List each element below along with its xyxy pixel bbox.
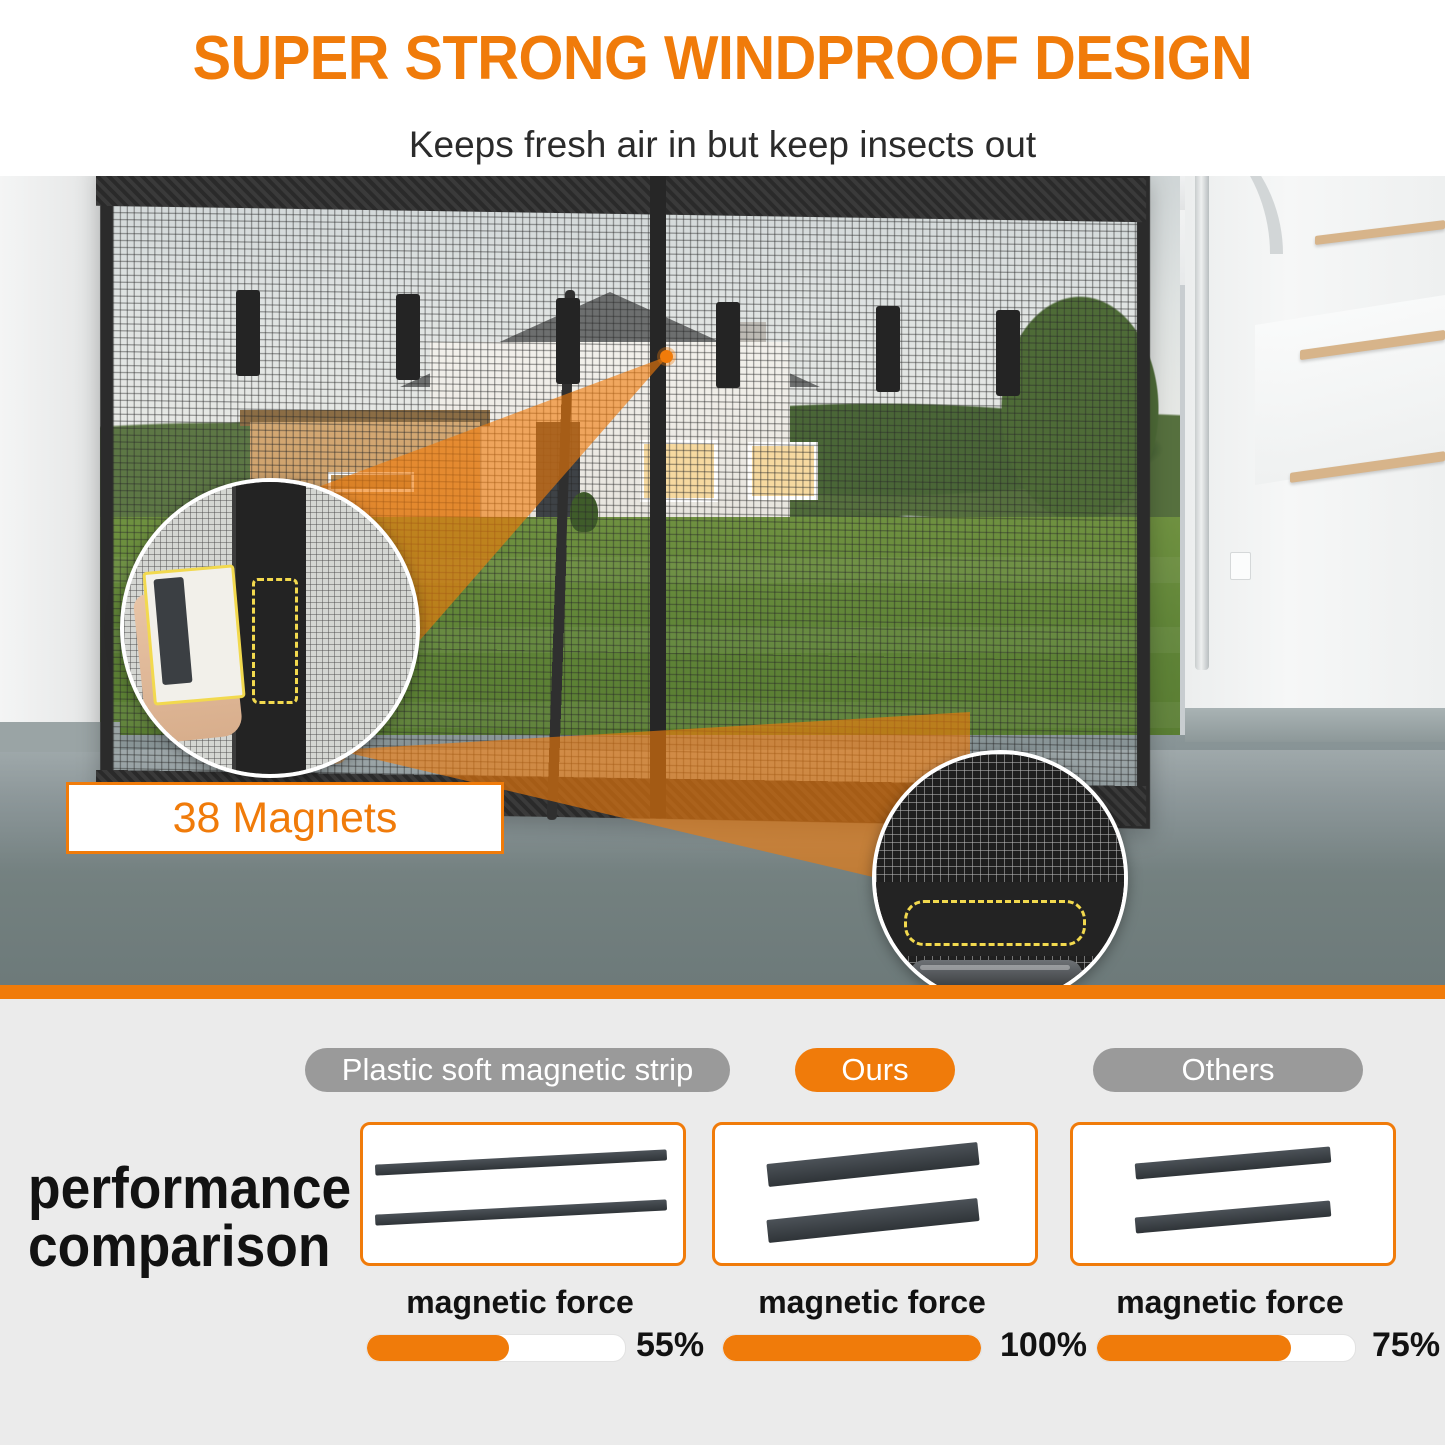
hero-photo: 38 Magnets 20 Windproof Gravity Bar (0, 110, 1445, 985)
highlight-dashed-box (904, 900, 1086, 946)
comparison-percent-ours: 100% (1000, 1326, 1087, 1365)
magnet-strip-illustration (1135, 1146, 1332, 1179)
comparison-bar-plastic (366, 1334, 626, 1362)
magnet-strip-illustration (766, 1198, 979, 1243)
page-subtitle: Keeps fresh air in but keep insects out (0, 123, 1445, 167)
product-infographic: 38 Magnets 20 Windproof Gravity Bar SUPE… (0, 0, 1445, 1445)
hanging-tab (996, 310, 1020, 396)
magnet-strip-illustration (375, 1199, 667, 1225)
inset-photo-gravity-bar (872, 750, 1128, 985)
comparison-tab-others-label: Others (1181, 1052, 1274, 1088)
comparison-card-others (1070, 1122, 1396, 1266)
gravity-bar-highlight (920, 965, 1070, 970)
comparison-bar-ours (722, 1334, 982, 1362)
comparison-tab-others[interactable]: Others (1093, 1048, 1363, 1092)
comparison-tab-ours[interactable]: Ours (795, 1048, 955, 1092)
hanging-tab (716, 302, 740, 388)
comparison-tab-ours-label: Ours (841, 1052, 908, 1088)
magnet-strip-illustration (766, 1142, 979, 1187)
comparison-bar-others (1096, 1334, 1356, 1362)
hanging-tab (236, 290, 260, 376)
comparison-card-plastic (360, 1122, 686, 1266)
header-band: SUPER STRONG WINDPROOF DESIGN Keeps fres… (0, 0, 1445, 176)
comparison-title-line1: performance (28, 1160, 332, 1218)
callout-label-magnets: 38 Magnets (66, 782, 504, 854)
gravity-bar (910, 960, 1082, 985)
callout-anchor-magnets (660, 350, 673, 363)
comparison-caption-plastic: magnetic force (360, 1284, 680, 1321)
comparison-caption-ours: magnetic force (712, 1284, 1032, 1321)
comparison-title-line2: comparison (28, 1218, 332, 1276)
magnet-strip-illustration (1135, 1200, 1332, 1233)
inset-photo-magnets (120, 478, 420, 778)
page-title: SUPER STRONG WINDPROOF DESIGN (51, 24, 1395, 94)
hanging-tab (876, 306, 900, 392)
wall-outlet (1230, 552, 1251, 580)
comparison-tab-plastic-label: Plastic soft magnetic strip (342, 1052, 693, 1088)
comparison-percent-plastic: 55% (636, 1326, 704, 1365)
section-divider (0, 985, 1445, 999)
highlight-dashed-box (252, 578, 298, 704)
comparison-title: performance comparison (28, 1160, 332, 1276)
magnet-strip-illustration (375, 1149, 667, 1175)
comparison-bar-plastic-fill (367, 1335, 509, 1361)
callout-label-magnets-text: 38 Magnets (173, 794, 398, 843)
comparison-bar-ours-fill (723, 1335, 981, 1361)
comparison-caption-others: magnetic force (1070, 1284, 1390, 1321)
comparison-tab-plastic[interactable]: Plastic soft magnetic strip (305, 1048, 730, 1092)
comparison-bar-others-fill (1097, 1335, 1291, 1361)
floor-baseboard (1185, 708, 1445, 742)
comparison-percent-others: 75% (1372, 1326, 1440, 1365)
comparison-card-ours (712, 1122, 1038, 1266)
